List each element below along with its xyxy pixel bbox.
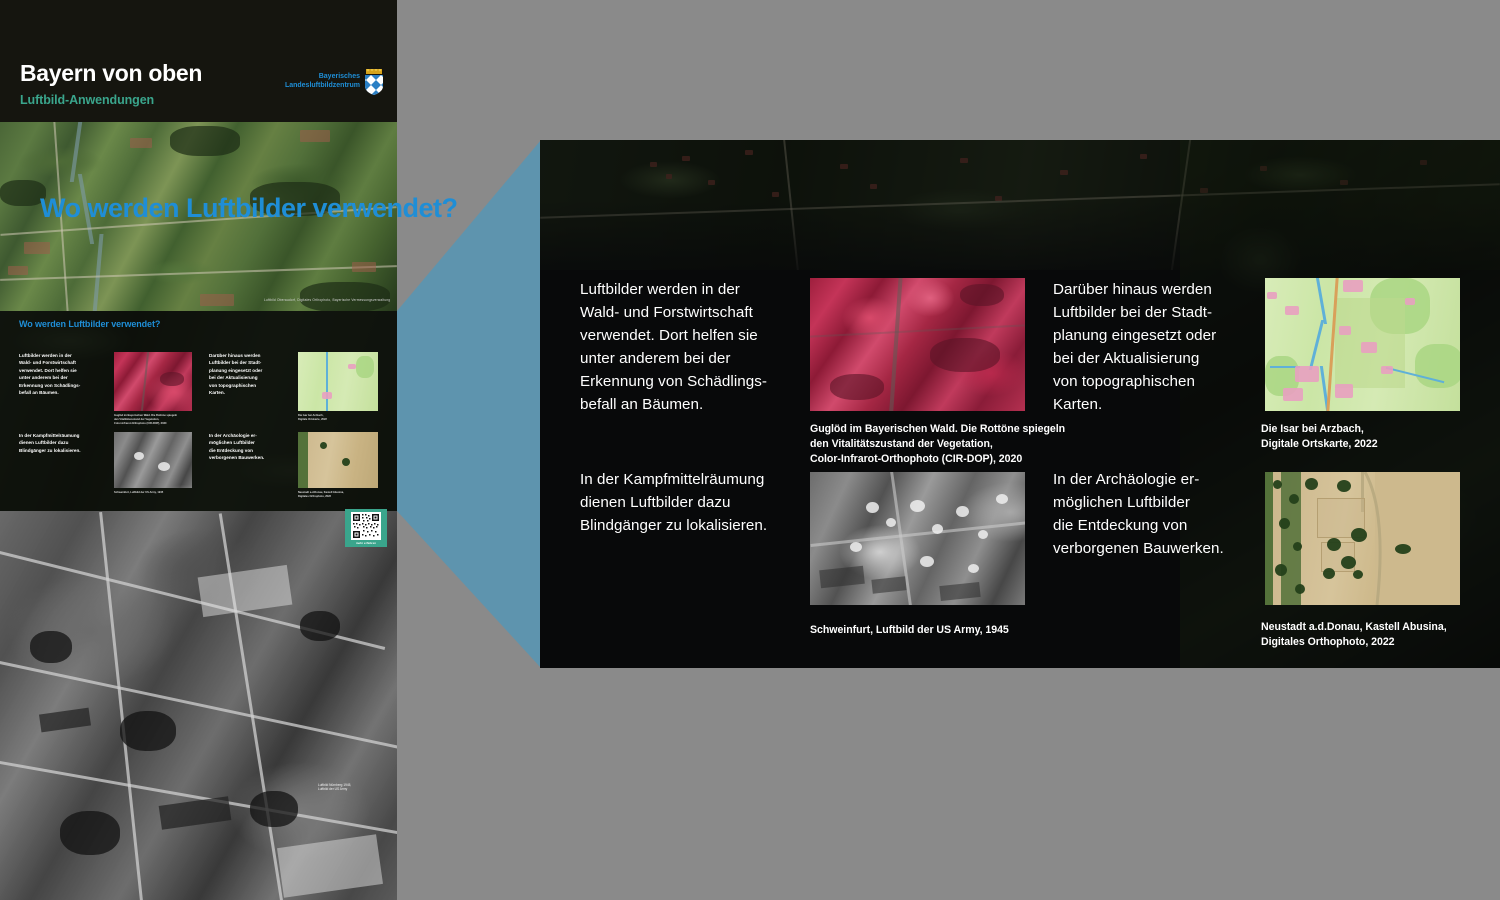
poster-block-text-kampfmittelraeumung: In der Kampfmittelräumung dienen Luftbil… xyxy=(19,432,114,454)
block-text-kampfmittelraeumung: In der Kampfmittelräumung dienen Luftbil… xyxy=(580,468,825,537)
poster-block-text-forstwirtschaft: Luftbilder werden in der Wald- und Forst… xyxy=(19,352,109,397)
caption-abusina: Neustadt a.d.Donau, Kastell Abusina, Dig… xyxy=(1261,620,1500,650)
caption-schweinfurt: Schweinfurt, Luftbild der US Army, 1945 xyxy=(810,623,1140,638)
poster-image-luftbild-schweinfurt xyxy=(114,432,192,488)
poster-title: Bayern von oben xyxy=(20,60,202,87)
poster-caption-isar: Die Isar bei Arzbach, Digitale Ortskarte… xyxy=(298,414,378,422)
block-text-archaeologie: In der Archäologie er- möglichen Luftbil… xyxy=(1053,468,1273,560)
image-digitale-ortskarte-isar xyxy=(1265,278,1460,411)
poster-image-kastell-abusina xyxy=(298,432,378,488)
block-text-stadtplanung: Darüber hinaus werden Luftbilder bei der… xyxy=(1053,278,1268,417)
block-text-forstwirtschaft: Luftbilder werden in der Wald- und Forst… xyxy=(580,278,815,417)
qr-code-label: mehr erfahren xyxy=(348,541,384,545)
qr-code-tile[interactable]: mehr erfahren xyxy=(345,509,387,547)
poster-panel-title: Wo werden Luftbilder verwendet? xyxy=(19,319,160,329)
poster-caption-guglod: Guglöd im Bayerischen Wald. Die Rottöne … xyxy=(114,414,194,426)
screenshot-root: Bayern von oben Luftbild-Anwendungen Bay… xyxy=(0,0,1500,900)
logo-text: Bayerisches Landesluftbildzentrum xyxy=(285,73,360,91)
image-kastell-abusina xyxy=(1265,472,1460,605)
poster-image-cir-orthophoto-guglod xyxy=(114,352,192,411)
panel-title: Wo werden Luftbilder verwendet? xyxy=(40,193,458,224)
bavaria-coat-of-arms-icon xyxy=(364,69,384,95)
poster-block-text-archaeologie: In der Archäologie er- möglichen Luftbil… xyxy=(209,432,294,462)
caption-guglod: Guglöd im Bayerischen Wald. Die Rottöne … xyxy=(810,422,1140,467)
poster-caption-schweinfurt: Schweinfurt, Luftbild der US Army, 1945 xyxy=(114,491,194,495)
aerial-photo-bottom xyxy=(0,511,397,900)
poster-preview: Bayern von oben Luftbild-Anwendungen Bay… xyxy=(0,0,397,900)
caption-isar: Die Isar bei Arzbach, Digitale Ortskarte… xyxy=(1261,422,1491,452)
qr-code-icon xyxy=(351,512,381,540)
organisation-logo: Bayerisches Landesluftbildzentrum xyxy=(272,66,384,98)
aerial-bottom-credit: Luftbild Nürnberg 1945, Luftbild der US … xyxy=(318,783,351,792)
image-cir-orthophoto-guglod xyxy=(810,278,1025,411)
poster-subtitle: Luftbild-Anwendungen xyxy=(20,93,154,107)
poster-caption-abusina: Neustadt a.d.Donau, Kastell Abusina, Dig… xyxy=(298,491,378,499)
aerial-top-credit: Luftbild Oberaudorf, Digitales Orthophot… xyxy=(264,298,390,302)
poster-image-digitale-ortskarte-isar xyxy=(298,352,378,411)
poster-block-text-stadtplanung: Darüber hinaus werden Luftbilder bei der… xyxy=(209,352,289,397)
image-luftbild-schweinfurt xyxy=(810,472,1025,605)
